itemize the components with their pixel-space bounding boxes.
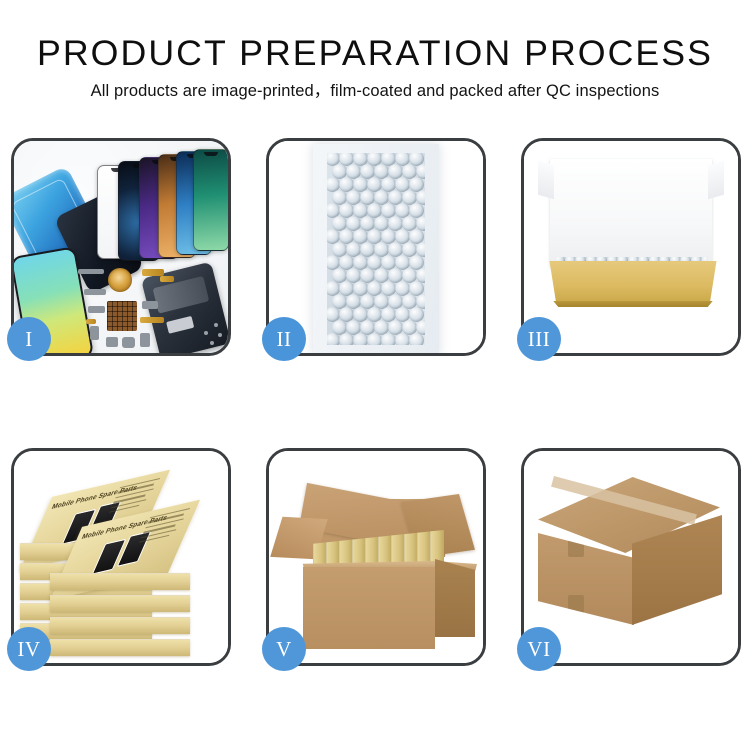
step-panel-4: Mobile Phone Spare Parts (11, 448, 231, 666)
bubble (381, 333, 396, 345)
notch-icon (204, 152, 218, 156)
step-image-3 (524, 141, 738, 353)
spare-part (142, 301, 158, 309)
carton-side-wall (435, 559, 475, 637)
stacked-box (50, 639, 190, 656)
bubble (353, 333, 368, 345)
screw-icon (210, 341, 214, 345)
flex-cable-icon (86, 319, 96, 324)
mailer-box-body (546, 261, 720, 305)
bubble (339, 333, 354, 345)
spare-part (90, 326, 99, 340)
step-panel-1: I (11, 138, 231, 356)
screw-icon (218, 333, 222, 337)
step-image-6 (524, 451, 738, 663)
step-panel-2: II (266, 138, 486, 356)
header: PRODUCT PREPARATION PROCESS All products… (0, 34, 750, 101)
spare-part (88, 306, 105, 313)
stacked-box (50, 573, 190, 590)
spare-part (84, 289, 106, 295)
flex-cable-icon (142, 269, 164, 276)
step-badge-5: V (262, 627, 306, 671)
step-image-1 (14, 141, 228, 353)
step-image-4: Mobile Phone Spare Parts (14, 451, 228, 663)
step-badge-3: III (517, 317, 561, 361)
spare-part (140, 333, 150, 347)
mailer-box-lid (550, 159, 712, 267)
spare-part (78, 269, 104, 274)
spare-part (106, 337, 118, 347)
phone-teal-icon (193, 149, 228, 251)
flex-cable-icon (160, 276, 174, 282)
step-panel-5: V (266, 448, 486, 666)
step-panel-3: III (521, 138, 741, 356)
bubble (395, 333, 410, 345)
stacked-box (50, 595, 190, 612)
page-title: PRODUCT PREPARATION PROCESS (0, 34, 750, 74)
bubble (367, 333, 382, 345)
mailer-box-front-edge (550, 301, 716, 307)
bubble-wrap-inner (327, 153, 425, 345)
bubble-grid (327, 153, 425, 345)
flex-cable-icon (140, 317, 164, 323)
screw-icon (204, 331, 208, 335)
battery-chip (166, 316, 194, 334)
bubble (409, 333, 424, 345)
step-badge-1: I (7, 317, 51, 361)
step-badge-6: VI (517, 627, 561, 671)
copper-coil-icon (108, 268, 132, 292)
carton-front-wall (303, 567, 435, 649)
process-steps-grid: I II III (11, 138, 741, 686)
product-preparation-infographic: PRODUCT PREPARATION PROCESS All products… (0, 0, 750, 750)
step-badge-2: II (262, 317, 306, 361)
screw-icon (214, 323, 218, 327)
stacked-box (50, 617, 190, 634)
grid-chip-icon (107, 301, 137, 331)
step-panel-6: VI (521, 448, 741, 666)
step-image-5 (269, 451, 483, 663)
step-image-2 (269, 141, 483, 353)
page-subtitle: All products are image-printed，film-coat… (0, 81, 750, 101)
spare-part (122, 337, 135, 348)
step-badge-4: IV (7, 627, 51, 671)
